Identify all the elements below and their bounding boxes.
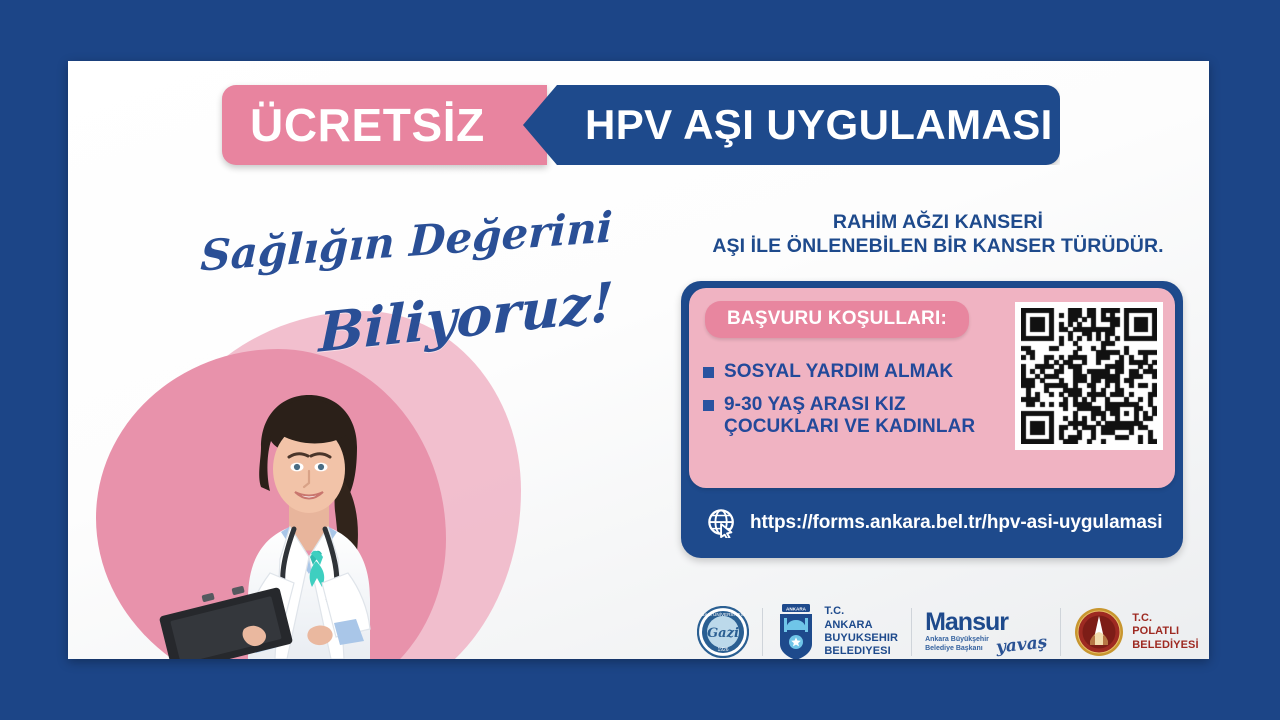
doctor-photo <box>158 361 458 659</box>
poster-frame: ÜCRETSİZ HPV AŞI UYGULAMASI Sağlığın Değ… <box>0 0 1280 720</box>
logo-line: ANKARA <box>824 619 898 632</box>
svg-text:Gazi: Gazi <box>707 626 739 641</box>
logo-ankara-text: T.C. ANKARA BUYUKSEHIR BELEDIYESI <box>824 605 898 659</box>
poster-card: ÜCRETSİZ HPV AŞI UYGULAMASI Sağlığın Değ… <box>68 61 1209 659</box>
header-banner: ÜCRETSİZ HPV AŞI UYGULAMASI <box>68 85 1209 165</box>
logo-mansur-yavas: Mansur Ankara Büyükşehir Belediye Başkan… <box>912 601 1060 659</box>
mansur-subtitle-line-1: Ankara Büyükşehir <box>925 636 989 645</box>
mansur-sub-row: Ankara Büyükşehir Belediye Başkanı yavaş <box>925 636 1047 654</box>
logo-line: BELEDİYESİ <box>1132 639 1198 652</box>
mansur-wordmark: Mansur Ankara Büyükşehir Belediye Başkan… <box>925 610 1047 654</box>
conditions-list: SOSYAL YARDIM ALMAK 9-30 YAŞ ARASI KIZ Ç… <box>703 361 1003 450</box>
tagline-line-1: Sağlığın Değerini <box>200 202 614 280</box>
logo-strip: Gazi 1926 GAZİ ÜNİVERSİTESİ ANKARA <box>668 589 1209 659</box>
mansur-subtitle: Ankara Büyükşehir Belediye Başkanı <box>925 636 989 654</box>
tagline-line-2: Biliyoruz! <box>318 269 614 364</box>
mansur-subtitle-line-2: Belediye Başkanı <box>925 645 989 654</box>
tagline: Sağlığın Değerini Biliyoruz! <box>198 201 668 381</box>
logo-line: T.C. <box>1132 612 1198 625</box>
logo-line: T.C. <box>824 605 898 618</box>
logo-polatli-belediyesi: T.C. POLATLI BELEDİYESİ <box>1061 601 1209 659</box>
qr-canvas <box>1021 308 1157 444</box>
mansur-word: Mansur <box>925 610 1008 635</box>
svg-text:GAZİ ÜNİVERSİTESİ: GAZİ ÜNİVERSİTESİ <box>701 611 745 617</box>
logo-line: BELEDIYESI <box>824 645 898 658</box>
bullet-square-icon <box>703 367 714 378</box>
bullet-square-icon <box>703 400 714 411</box>
list-item: SOSYAL YARDIM ALMAK <box>703 361 1003 383</box>
headline-line-1: RAHİM AĞZI KANSERİ <box>688 211 1188 235</box>
gazi-seal-icon: Gazi 1926 GAZİ ÜNİVERSİTESİ <box>697 606 749 658</box>
logo-gazi-universitesi: Gazi 1926 GAZİ ÜNİVERSİTESİ <box>684 601 762 659</box>
title-panel: HPV AŞI UYGULAMASI <box>523 85 1060 165</box>
conditions-card: BAŞVURU KOŞULLARI: SOSYAL YARDIM ALMAK 9… <box>689 288 1175 488</box>
free-badge: ÜCRETSİZ <box>222 85 547 165</box>
logo-polatli-text: T.C. POLATLI BELEDİYESİ <box>1132 612 1198 652</box>
info-column: RAHİM AĞZI KANSERİ AŞI İLE ÖNLENEBİLEN B… <box>688 211 1188 259</box>
headline-line-2: AŞI İLE ÖNLENEBİLEN BİR KANSER TÜRÜDÜR. <box>688 235 1188 259</box>
logo-line: BUYUKSEHIR <box>824 632 898 645</box>
url-bar[interactable]: https://forms.ankara.bel.tr/hpv-asi-uygu… <box>681 488 1183 558</box>
logo-ankara-buyuksehir-belediyesi: ANKARA T.C. ANKARA BUYUKSEHIR BELEDIYESI <box>763 601 911 659</box>
conditions-title-label: BAŞVURU KOŞULLARI: <box>727 308 947 330</box>
polatli-seal-icon <box>1074 607 1124 657</box>
url-text: https://forms.ankara.bel.tr/hpv-asi-uygu… <box>750 512 1162 534</box>
mansur-script: yavaş <box>995 636 1048 657</box>
globe-cursor-icon <box>707 508 737 538</box>
qr-code[interactable] <box>1015 302 1163 450</box>
poster-title: HPV AŞI UYGULAMASI <box>585 104 1053 146</box>
application-panel: BAŞVURU KOŞULLARI: SOSYAL YARDIM ALMAK 9… <box>681 281 1183 558</box>
condition-text: 9-30 YAŞ ARASI KIZ ÇOCUKLARI VE KADINLAR <box>724 394 1003 438</box>
condition-text: SOSYAL YARDIM ALMAK <box>724 361 953 383</box>
free-badge-label: ÜCRETSİZ <box>250 102 485 148</box>
svg-text:ANKARA: ANKARA <box>786 606 807 611</box>
ankara-shield-icon: ANKARA <box>776 604 816 659</box>
list-item: 9-30 YAŞ ARASI KIZ ÇOCUKLARI VE KADINLAR <box>703 394 1003 438</box>
headline: RAHİM AĞZI KANSERİ AŞI İLE ÖNLENEBİLEN B… <box>688 211 1188 259</box>
logo-line: POLATLI <box>1132 625 1198 638</box>
svg-text:1926: 1926 <box>718 647 729 653</box>
conditions-title-badge: BAŞVURU KOŞULLARI: <box>705 301 969 338</box>
